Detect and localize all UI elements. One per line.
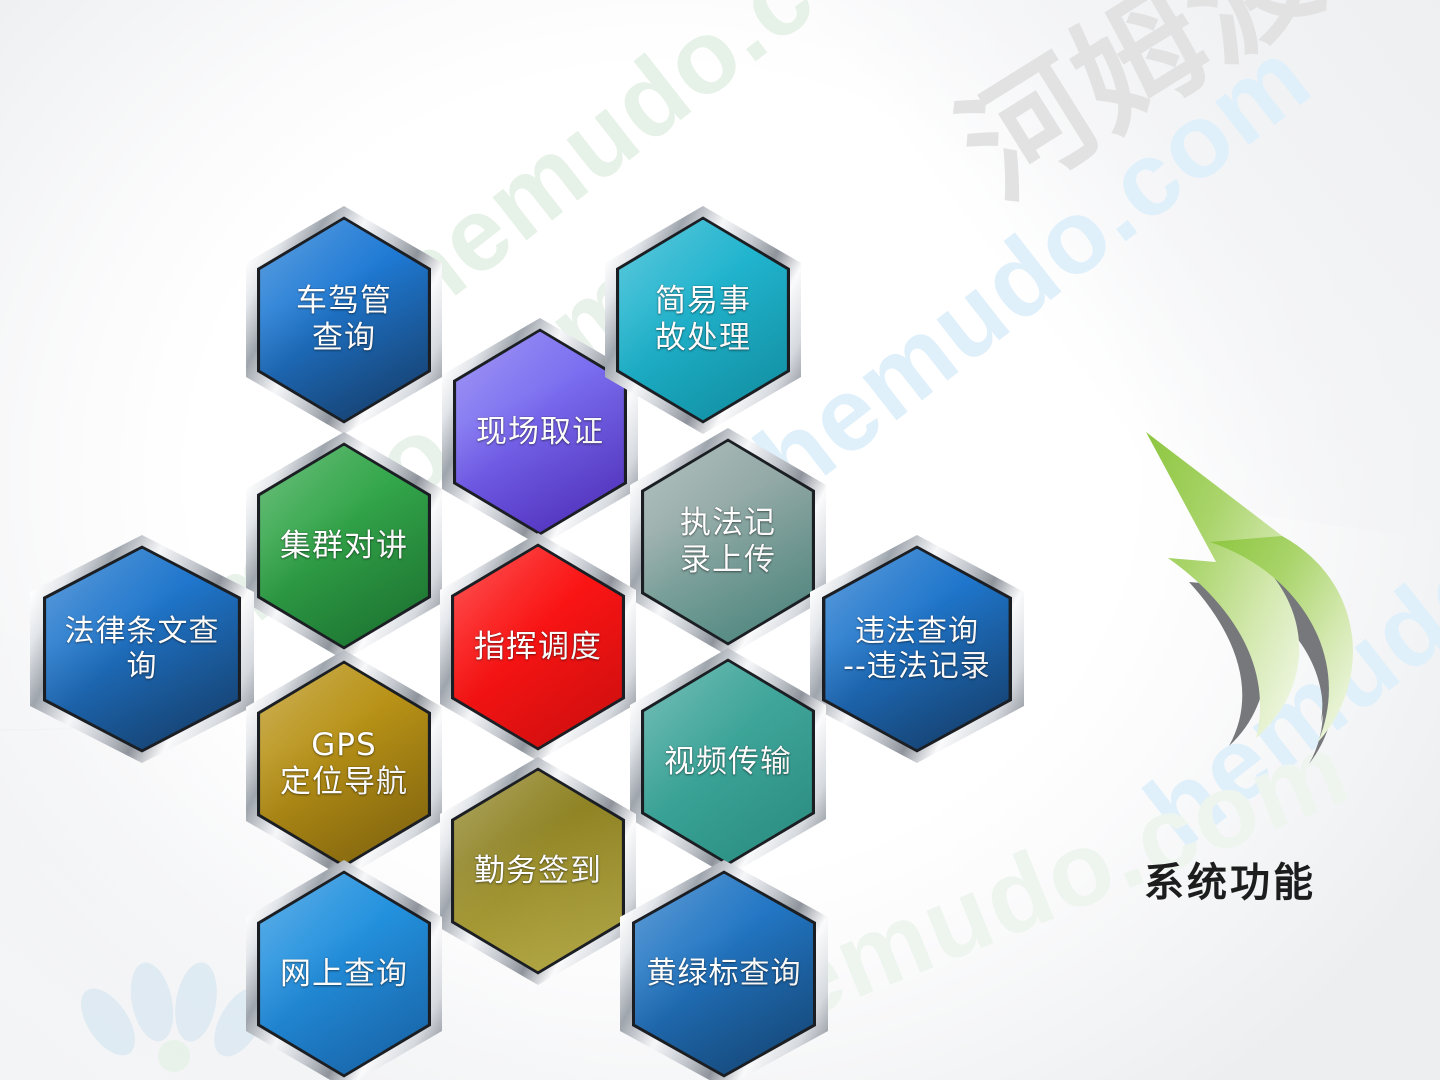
- hexagon-label: 法律条文查询: [46, 614, 238, 685]
- hexagon-label: 车驾管查询: [292, 283, 396, 356]
- hexagon-label: 执法记录上传: [676, 505, 780, 578]
- hexagon-label: 现场取证: [472, 414, 608, 451]
- hexagon-fa-lv-tiao-wen[interactable]: 法律条文查询: [30, 535, 254, 763]
- slide-canvas: 河姆渡 hemudo.com hemudo.com hemudo.com hem…: [0, 0, 1440, 1080]
- hexagon-label: 勤务签到: [470, 853, 606, 890]
- hexagon-label: 违法查询--违法记录: [839, 614, 995, 685]
- curved-arrow-icon: [1060, 430, 1400, 830]
- hexagon-qin-wu-qian-dao[interactable]: 勤务签到: [440, 757, 636, 985]
- hexagon-grid: 车驾管查询现场取证简易事故处理集群对讲执法记录上传法律条文查询指挥调度违法查询-…: [0, 0, 1060, 1080]
- hexagon-wang-shang-cha-xun[interactable]: 网上查询: [246, 860, 442, 1080]
- hexagon-label: 黄绿标查询: [642, 956, 805, 991]
- hexagon-zhi-fa-ji-lu[interactable]: 执法记录上传: [630, 428, 826, 656]
- hexagon-label: 指挥调度: [470, 629, 606, 666]
- hexagon-label: GPS定位导航: [276, 727, 412, 800]
- hexagon-wei-fa-cha-xun[interactable]: 违法查询--违法记录: [810, 535, 1024, 763]
- hexagon-label: 网上查询: [276, 956, 412, 993]
- hexagon-shi-pin-chuan-shu[interactable]: 视频传输: [630, 648, 826, 876]
- hexagon-label: 简易事故处理: [651, 283, 755, 356]
- hexagon-che-jia-guan[interactable]: 车驾管查询: [246, 206, 442, 434]
- hexagon-ji-qun-dui-jiang[interactable]: 集群对讲: [246, 432, 442, 660]
- hexagon-label: 集群对讲: [276, 528, 412, 565]
- system-function-caption: 系统功能: [1060, 850, 1400, 908]
- hexagon-label: 视频传输: [660, 744, 796, 781]
- hexagon-gps-dao-hang[interactable]: GPS定位导航: [246, 650, 442, 878]
- hexagon-zhi-hui-diao-du[interactable]: 指挥调度: [440, 533, 636, 761]
- hexagon-huang-lv-biao[interactable]: 黄绿标查询: [620, 860, 828, 1080]
- hexagon-jian-yi-shi-gu[interactable]: 简易事故处理: [605, 206, 801, 434]
